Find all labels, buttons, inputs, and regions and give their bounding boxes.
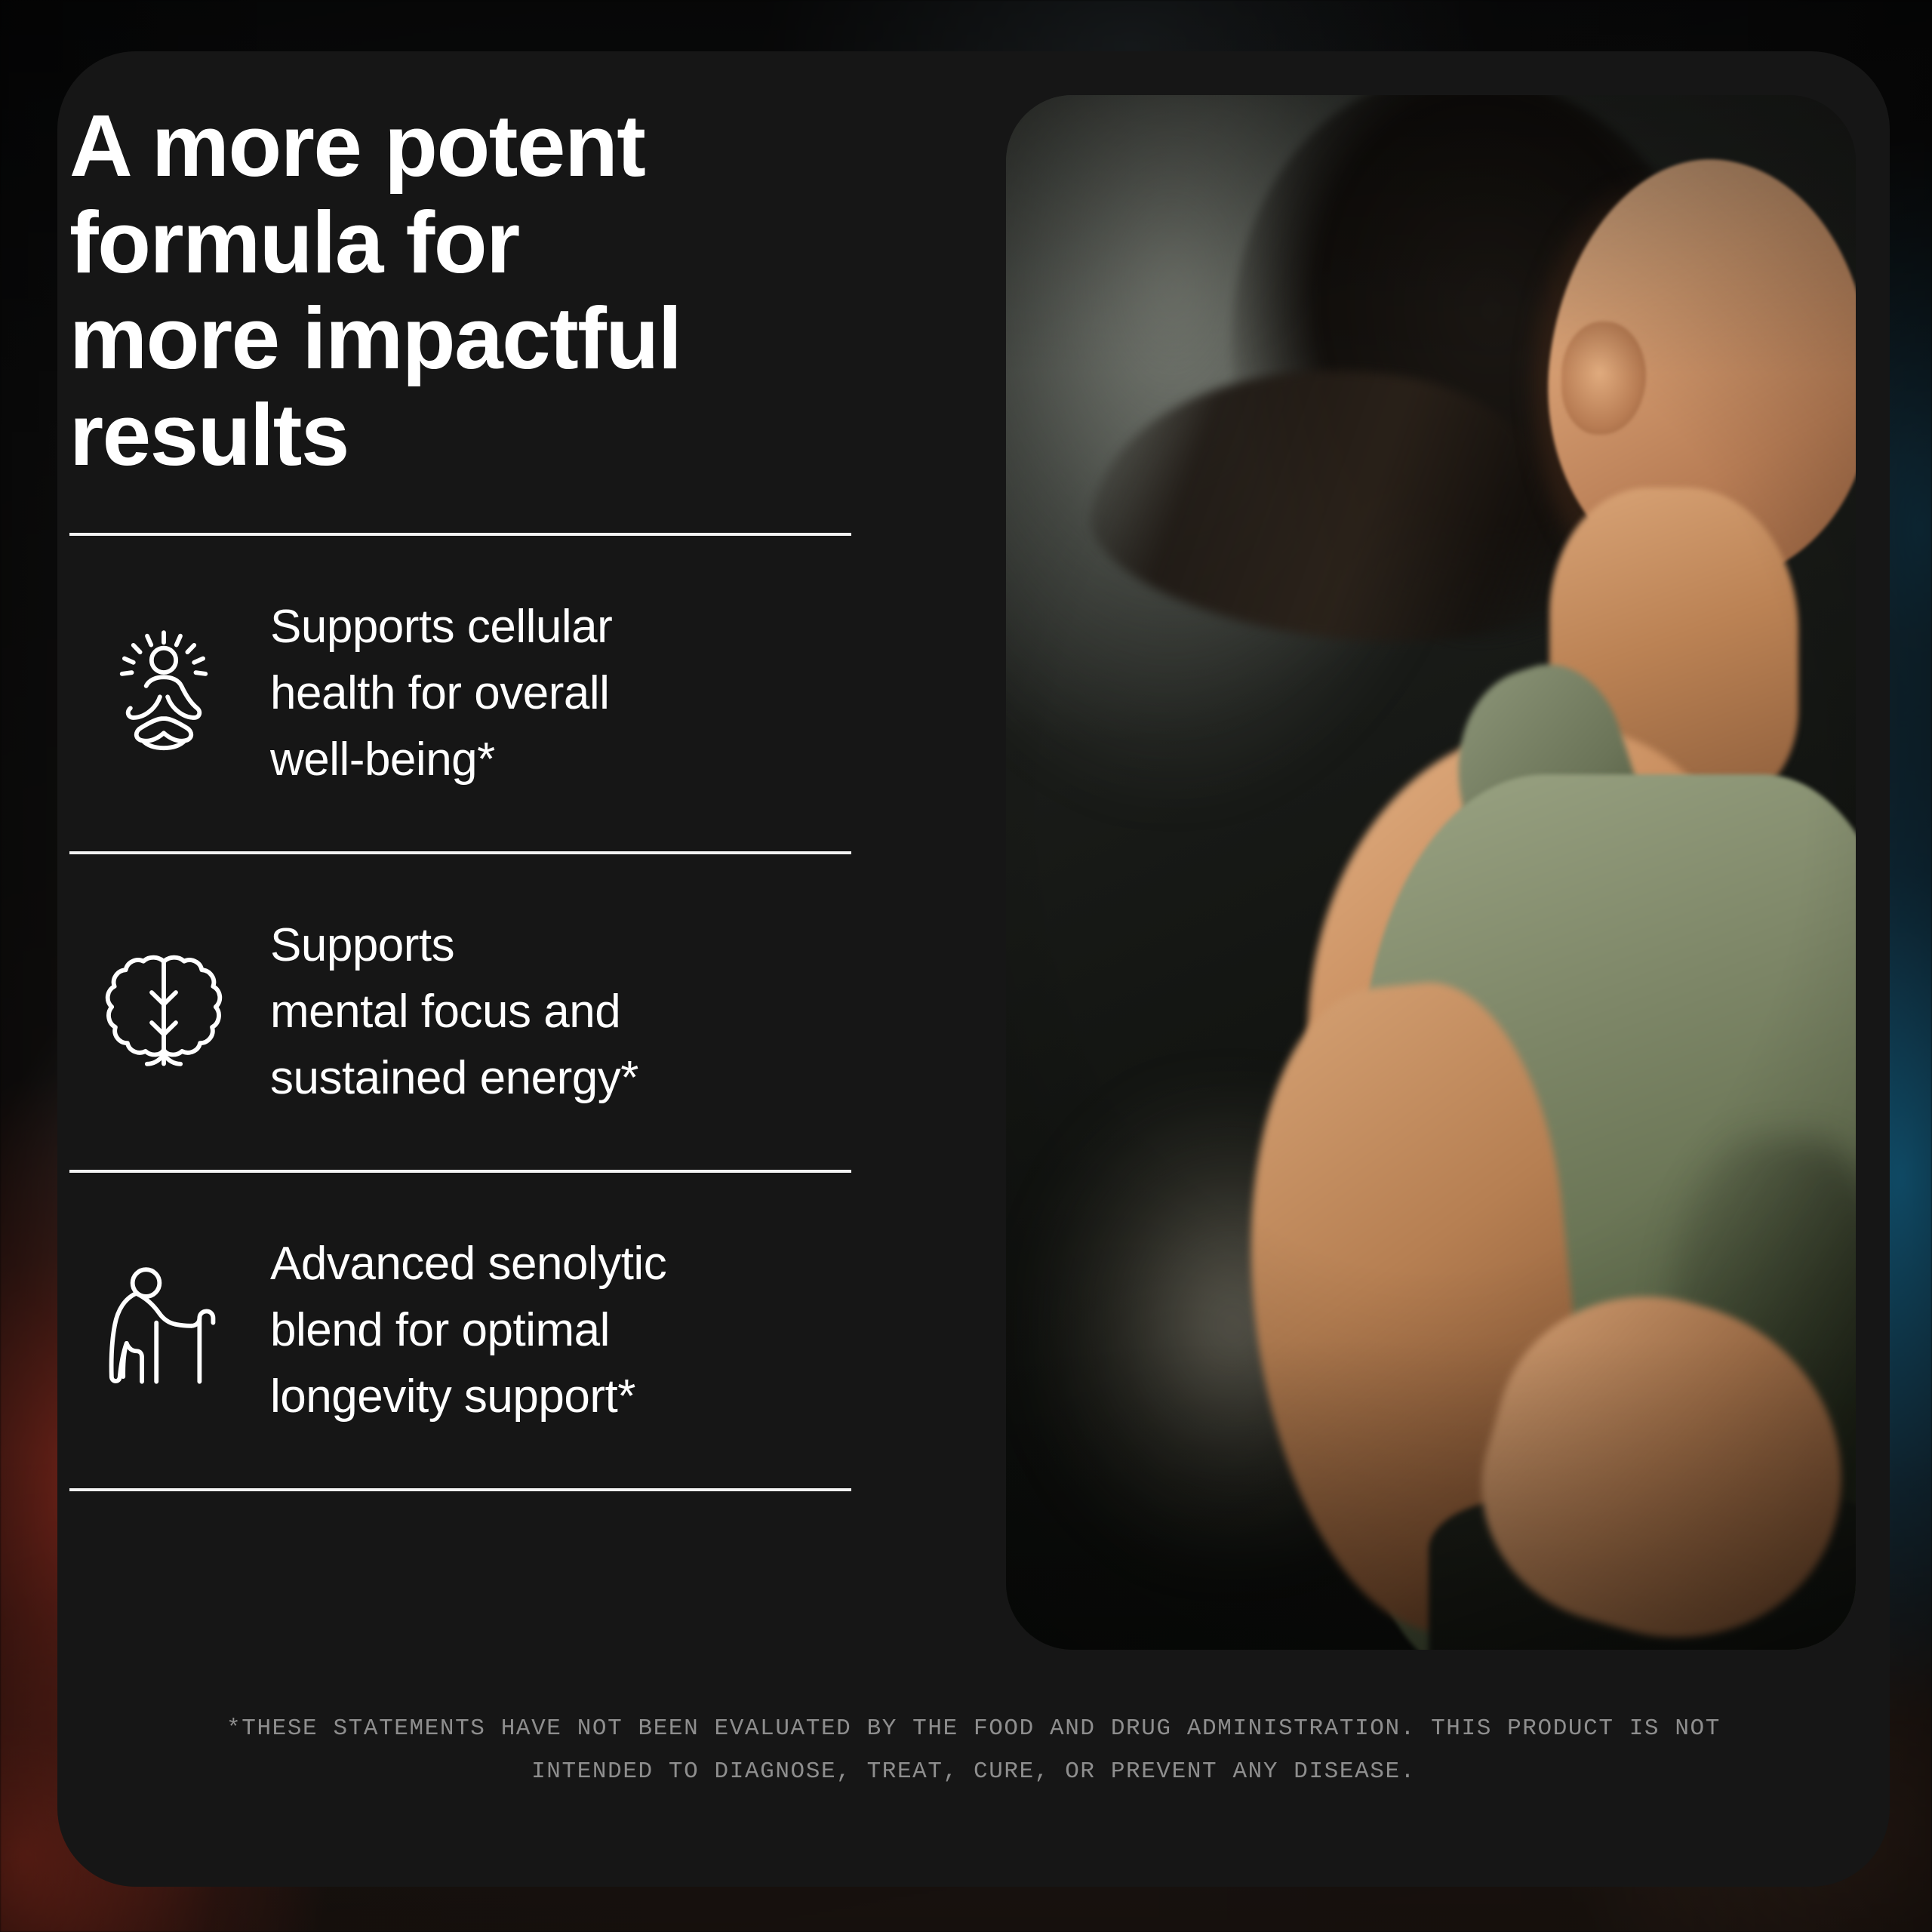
meditation-icon — [69, 623, 258, 764]
list-item: Supports mental focus and sustained ener… — [69, 854, 851, 1170]
list-item-label: Supports mental focus and sustained ener… — [258, 912, 638, 1112]
list-item-label: Advanced senolytic blend for optimal lon… — [258, 1231, 666, 1430]
list-item-label: Supports cellular health for overall wel… — [258, 594, 612, 793]
page-title: A more potent formula for more impactful… — [69, 98, 915, 483]
list-item: Supports cellular health for overall wel… — [69, 536, 851, 851]
benefits-list: Supports cellular health for overall wel… — [69, 533, 851, 1491]
brain-icon — [69, 941, 258, 1083]
photo-vignette — [1006, 95, 1856, 1650]
promo-graphic: A more potent formula for more impactful… — [0, 0, 1932, 1932]
divider — [69, 1488, 851, 1491]
left-column: A more potent formula for more impactful… — [69, 98, 915, 1491]
woman-running-outdoors-photo — [1006, 95, 1856, 1650]
list-item: Advanced senolytic blend for optimal lon… — [69, 1173, 851, 1488]
fda-disclaimer: *THESE STATEMENTS HAVE NOT BEEN EVALUATE… — [57, 1707, 1890, 1794]
elderly-person-with-cane-icon — [69, 1260, 258, 1401]
